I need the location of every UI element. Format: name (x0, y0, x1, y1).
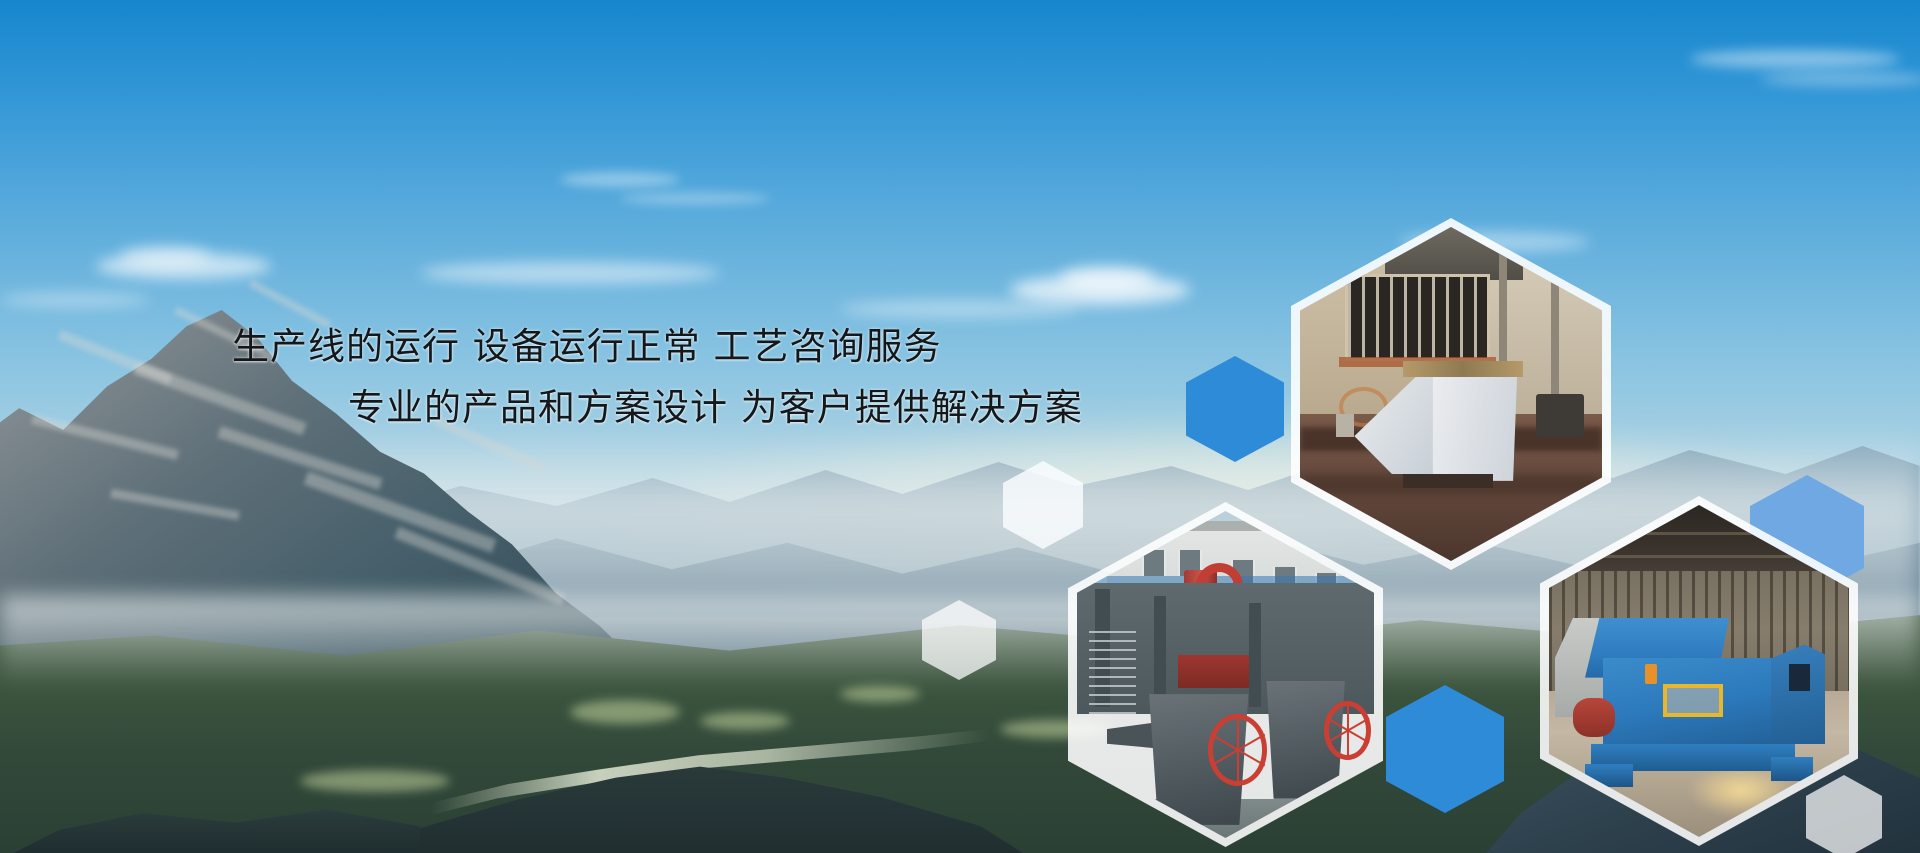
cloud (0, 292, 150, 308)
hero-banner: 生产线的运行 设备运行正常 工艺咨询服务 专业的产品和方案设计 为客户提供解决方… (0, 0, 1920, 853)
meadow-patch (700, 712, 790, 730)
meadow-patch (300, 770, 450, 792)
cloud (1060, 266, 1155, 290)
cloud (420, 262, 720, 284)
cloud (560, 172, 680, 187)
meadow-patch (840, 686, 920, 702)
cloud (620, 192, 770, 205)
cloud (1690, 50, 1900, 68)
photo-hex-ladles[interactable] (1068, 502, 1383, 847)
banner-headline: 生产线的运行 设备运行正常 工艺咨询服务 专业的产品和方案设计 为客户提供解决方… (0, 328, 1120, 426)
cloud (840, 300, 1080, 318)
meadow-patch (570, 700, 680, 724)
cloud (1760, 72, 1920, 86)
photo-hex-shredder[interactable] (1540, 496, 1858, 846)
headline-line-1: 生产线的运行 设备运行正常 工艺咨询服务 (0, 328, 1120, 365)
cloud (120, 246, 210, 266)
headline-line-2: 专业的产品和方案设计 为客户提供解决方案 (0, 389, 1120, 426)
